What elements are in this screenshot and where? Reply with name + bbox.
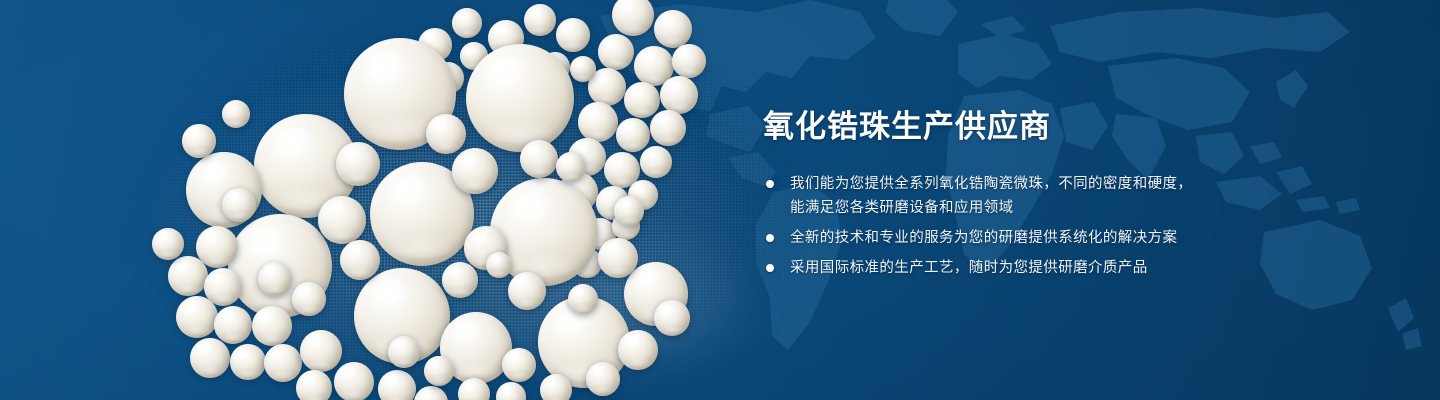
feature-bullet-item: 全新的技术和专业的服务为您的研磨提供系统化的解决方案: [763, 226, 1323, 250]
hero-banner: 氧化锆珠生产供应商 我们能为您提供全系列氧化锆陶瓷微珠，不同的密度和硬度， 能满…: [0, 0, 1440, 400]
banner-text-block: 氧化锆珠生产供应商 我们能为您提供全系列氧化锆陶瓷微珠，不同的密度和硬度， 能满…: [763, 108, 1323, 280]
bullet-dot-icon: [766, 264, 774, 272]
bullet-line-1: 采用国际标准的生产工艺，随时为您提供研磨介质产品: [790, 256, 1323, 280]
bullet-dot-icon: [766, 180, 774, 188]
bullet-line-1: 全新的技术和专业的服务为您的研磨提供系统化的解决方案: [790, 226, 1323, 250]
feature-bullet-item: 我们能为您提供全系列氧化锆陶瓷微珠，不同的密度和硬度， 能满足您各类研磨设备和应…: [763, 172, 1323, 220]
feature-bullet-list: 我们能为您提供全系列氧化锆陶瓷微珠，不同的密度和硬度， 能满足您各类研磨设备和应…: [763, 172, 1323, 280]
bullet-line-2: 能满足您各类研磨设备和应用领域: [790, 196, 1323, 220]
bullet-line-1: 我们能为您提供全系列氧化锆陶瓷微珠，不同的密度和硬度，: [790, 172, 1323, 196]
banner-headline: 氧化锆珠生产供应商: [763, 108, 1323, 146]
feature-bullet-item: 采用国际标准的生产工艺，随时为您提供研磨介质产品: [763, 256, 1323, 280]
bullet-dot-icon: [766, 234, 774, 242]
